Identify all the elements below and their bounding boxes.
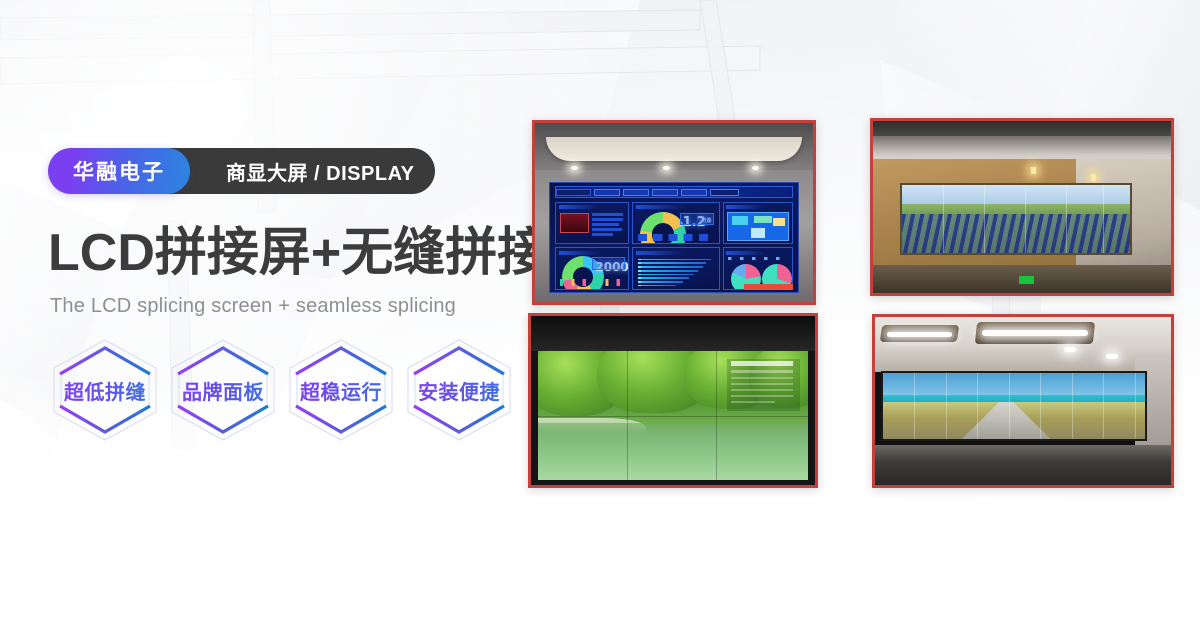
dashboard-card: 1.2 万座 (632, 202, 720, 245)
light-strip (982, 330, 1089, 336)
solar-panels (902, 214, 1130, 254)
wall-lamp (1091, 174, 1096, 181)
dashboard-grid: 1.2 万座 2000 (555, 202, 793, 290)
brand-badge: 华融电子 (48, 148, 190, 194)
exit-sign (1019, 276, 1034, 285)
product-photo-dashboard[interactable]: 1.2 万座 2000 (532, 120, 816, 305)
ceiling-recess (873, 121, 1171, 136)
feature-item-2[interactable]: 超稳运行 (282, 334, 400, 446)
ceiling-light (663, 166, 670, 170)
lake-water (538, 423, 808, 480)
light-strip (887, 332, 952, 337)
feature-item-3[interactable]: 安装便捷 (400, 334, 518, 446)
dashboard-topbar (555, 186, 793, 198)
bar-chart (638, 259, 714, 287)
ceiling-cove (546, 137, 802, 160)
feature-label: 超低拼缝 (46, 334, 164, 446)
photo-solar-scene (873, 121, 1171, 293)
feature-label: 安装便捷 (400, 334, 518, 446)
page-title: LCD拼接屏+无缝拼接 (48, 224, 549, 284)
video-wall-screen: 1.2 万座 2000 (549, 182, 799, 293)
video-wall-screen (881, 371, 1147, 442)
wall-lamp (1031, 167, 1036, 174)
badge-row: 商显大屏 / DISPLAY 华融电子 (48, 148, 190, 194)
sky (883, 373, 1145, 397)
video-wall-screen (900, 183, 1132, 255)
spot-light (1106, 354, 1118, 359)
page-subtitle: The LCD splicing screen + seamless splic… (50, 295, 456, 318)
spot-light (1064, 347, 1076, 352)
sky (902, 185, 1130, 205)
banner-text-block: 商显大屏 / DISPLAY 华融电子 LCD拼接屏+无缝拼接 The LCD … (48, 0, 548, 640)
feature-item-1[interactable]: 品牌面板 (164, 334, 282, 446)
photo-dashboard-scene: 1.2 万座 2000 (535, 123, 813, 302)
dashboard-card (632, 247, 720, 290)
video-wall-screen (538, 351, 808, 479)
floor (875, 445, 1171, 485)
feature-label: 超稳运行 (282, 334, 400, 446)
product-photo-beach[interactable] (872, 314, 1174, 488)
product-photo-solar[interactable] (870, 118, 1174, 296)
photo-willow-scene (531, 316, 815, 485)
calendar-overlay (727, 359, 800, 410)
feature-label: 品牌面板 (164, 334, 282, 446)
ceiling-light (571, 166, 578, 170)
dashboard-card: 2000 (555, 247, 629, 290)
dashboard-card (723, 202, 793, 245)
ceiling-light (752, 166, 759, 170)
dashboard-card (555, 202, 629, 245)
dashboard-card (723, 247, 793, 290)
feature-list: 超低拼缝 品牌面板 超稳运行 (46, 334, 518, 446)
top-bezel (531, 316, 815, 351)
feature-item-0[interactable]: 超低拼缝 (46, 334, 164, 446)
product-photo-willow[interactable] (528, 313, 818, 488)
photo-beach-scene (875, 317, 1171, 485)
